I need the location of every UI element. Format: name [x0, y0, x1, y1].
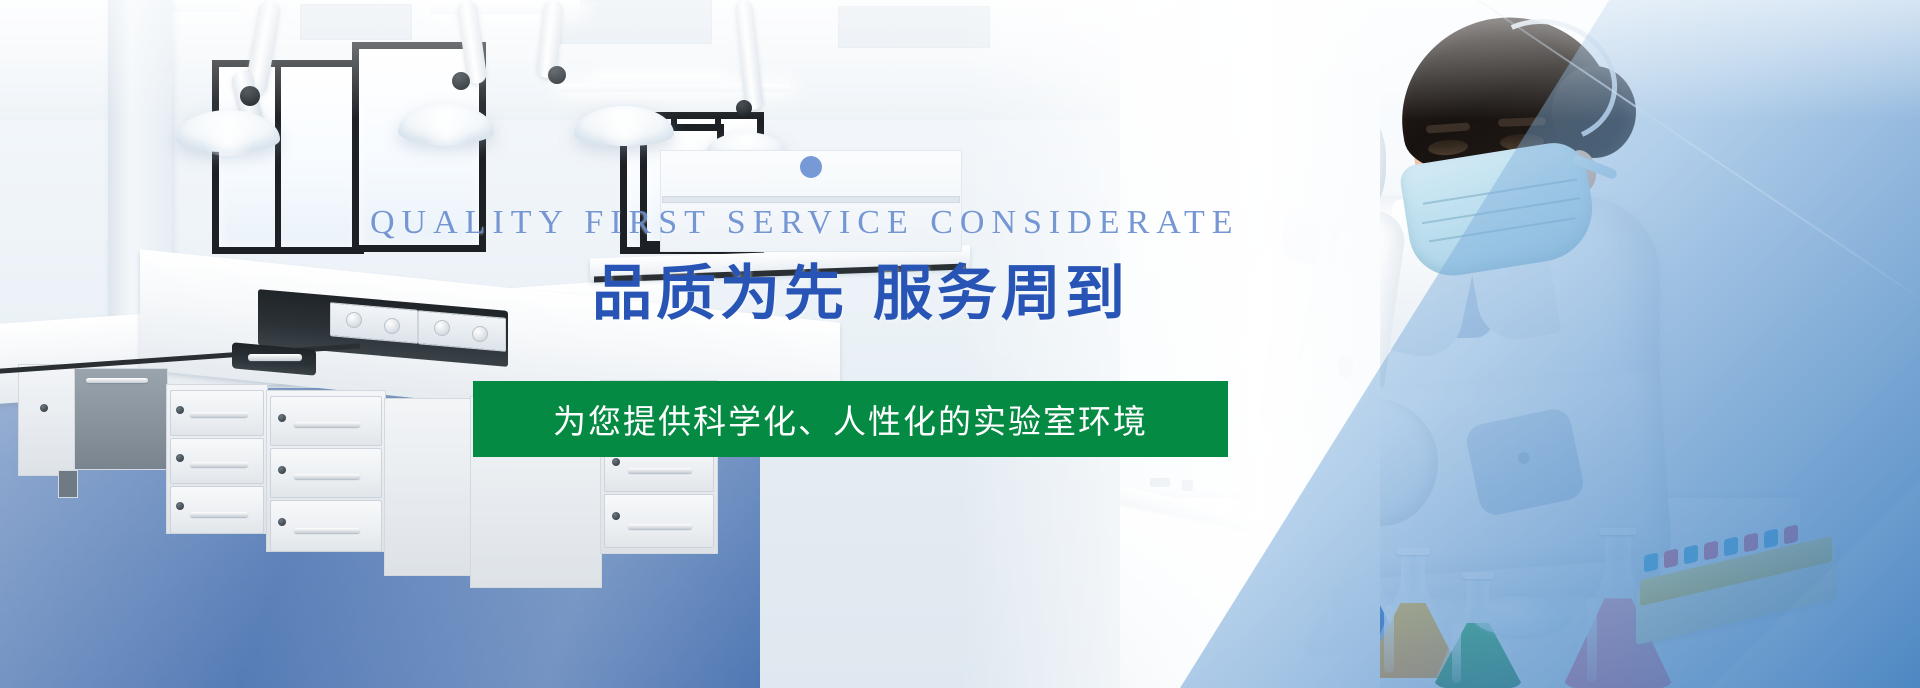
chinese-subtitle: 为您提供科学化、人性化的实验室环境: [553, 395, 1148, 443]
subtitle-green-bar: 为您提供科学化、人性化的实验室环境: [473, 381, 1228, 457]
hero-banner: QUALITY FIRST SERVICE CONSIDERATE 品质为先 服…: [0, 0, 1920, 688]
banner-text-overlay: QUALITY FIRST SERVICE CONSIDERATE 品质为先 服…: [0, 0, 1920, 688]
chinese-headline: 品质为先 服务周到: [592, 245, 1129, 332]
english-tagline: QUALITY FIRST SERVICE CONSIDERATE: [370, 204, 1240, 242]
